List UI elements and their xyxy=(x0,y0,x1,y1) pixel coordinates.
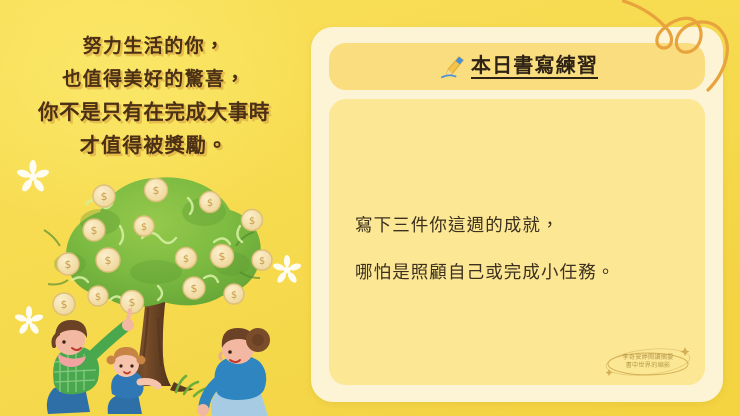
svg-text:$: $ xyxy=(91,224,98,237)
svg-text:$: $ xyxy=(105,254,112,267)
pencil-icon xyxy=(440,55,466,79)
quote-line-2: 也值得美好的驚喜， xyxy=(0,63,308,96)
watermark-logo: 李奇安婷閱讀摘要 書中世界的縮影 xyxy=(599,345,697,379)
svg-text:$: $ xyxy=(141,222,147,233)
svg-text:$: $ xyxy=(207,198,213,209)
svg-text:$: $ xyxy=(183,254,189,265)
svg-text:$: $ xyxy=(219,250,226,263)
quote-block: 努力生活的你， 也值得美好的驚喜， 你不是只有在完成大事時 才值得被獎勵。 xyxy=(0,30,308,162)
quote-line-4: 才值得被獎勵。 xyxy=(0,129,308,162)
svg-text:$: $ xyxy=(231,290,237,301)
body-line-2: 哪怕是照顧自己或完成小任務。 xyxy=(355,250,689,297)
svg-text:$: $ xyxy=(65,258,72,271)
money-tree-illustration: $ $ $ $ $ $ $ $ $ $ $ $ $ $ $ $ xyxy=(8,168,304,416)
svg-text:$: $ xyxy=(249,216,255,227)
svg-text:$: $ xyxy=(101,190,108,203)
svg-text:$: $ xyxy=(95,292,101,303)
left-column: 努力生活的你， 也值得美好的驚喜， 你不是只有在完成大事時 才值得被獎勵。 xyxy=(0,0,308,416)
svg-text:$: $ xyxy=(61,298,68,311)
writing-practice-card: 本日書寫練習 寫下三件你這週的成就， 哪怕是照顧自己或完成小任務。 李奇安 xyxy=(311,27,723,402)
quote-line-1: 努力生活的你， xyxy=(0,30,308,63)
quote-line-3: 你不是只有在完成大事時 xyxy=(0,96,308,129)
slide-canvas: 努力生活的你， 也值得美好的驚喜， 你不是只有在完成大事時 才值得被獎勵。 xyxy=(0,0,740,416)
body-line-1: 寫下三件你這週的成就， xyxy=(355,203,689,250)
card-header: 本日書寫練習 xyxy=(329,43,705,90)
svg-text:$: $ xyxy=(153,184,160,197)
card-header-title: 本日書寫練習 xyxy=(471,54,598,79)
svg-text:$: $ xyxy=(259,256,265,267)
svg-text:$: $ xyxy=(191,282,198,295)
svg-text:$: $ xyxy=(129,296,136,309)
card-body[interactable]: 寫下三件你這週的成就， 哪怕是照顧自己或完成小任務。 李奇安婷閱讀摘要 書中世界… xyxy=(329,99,705,385)
card-body-text: 寫下三件你這週的成就， 哪怕是照顧自己或完成小任務。 xyxy=(355,203,689,297)
